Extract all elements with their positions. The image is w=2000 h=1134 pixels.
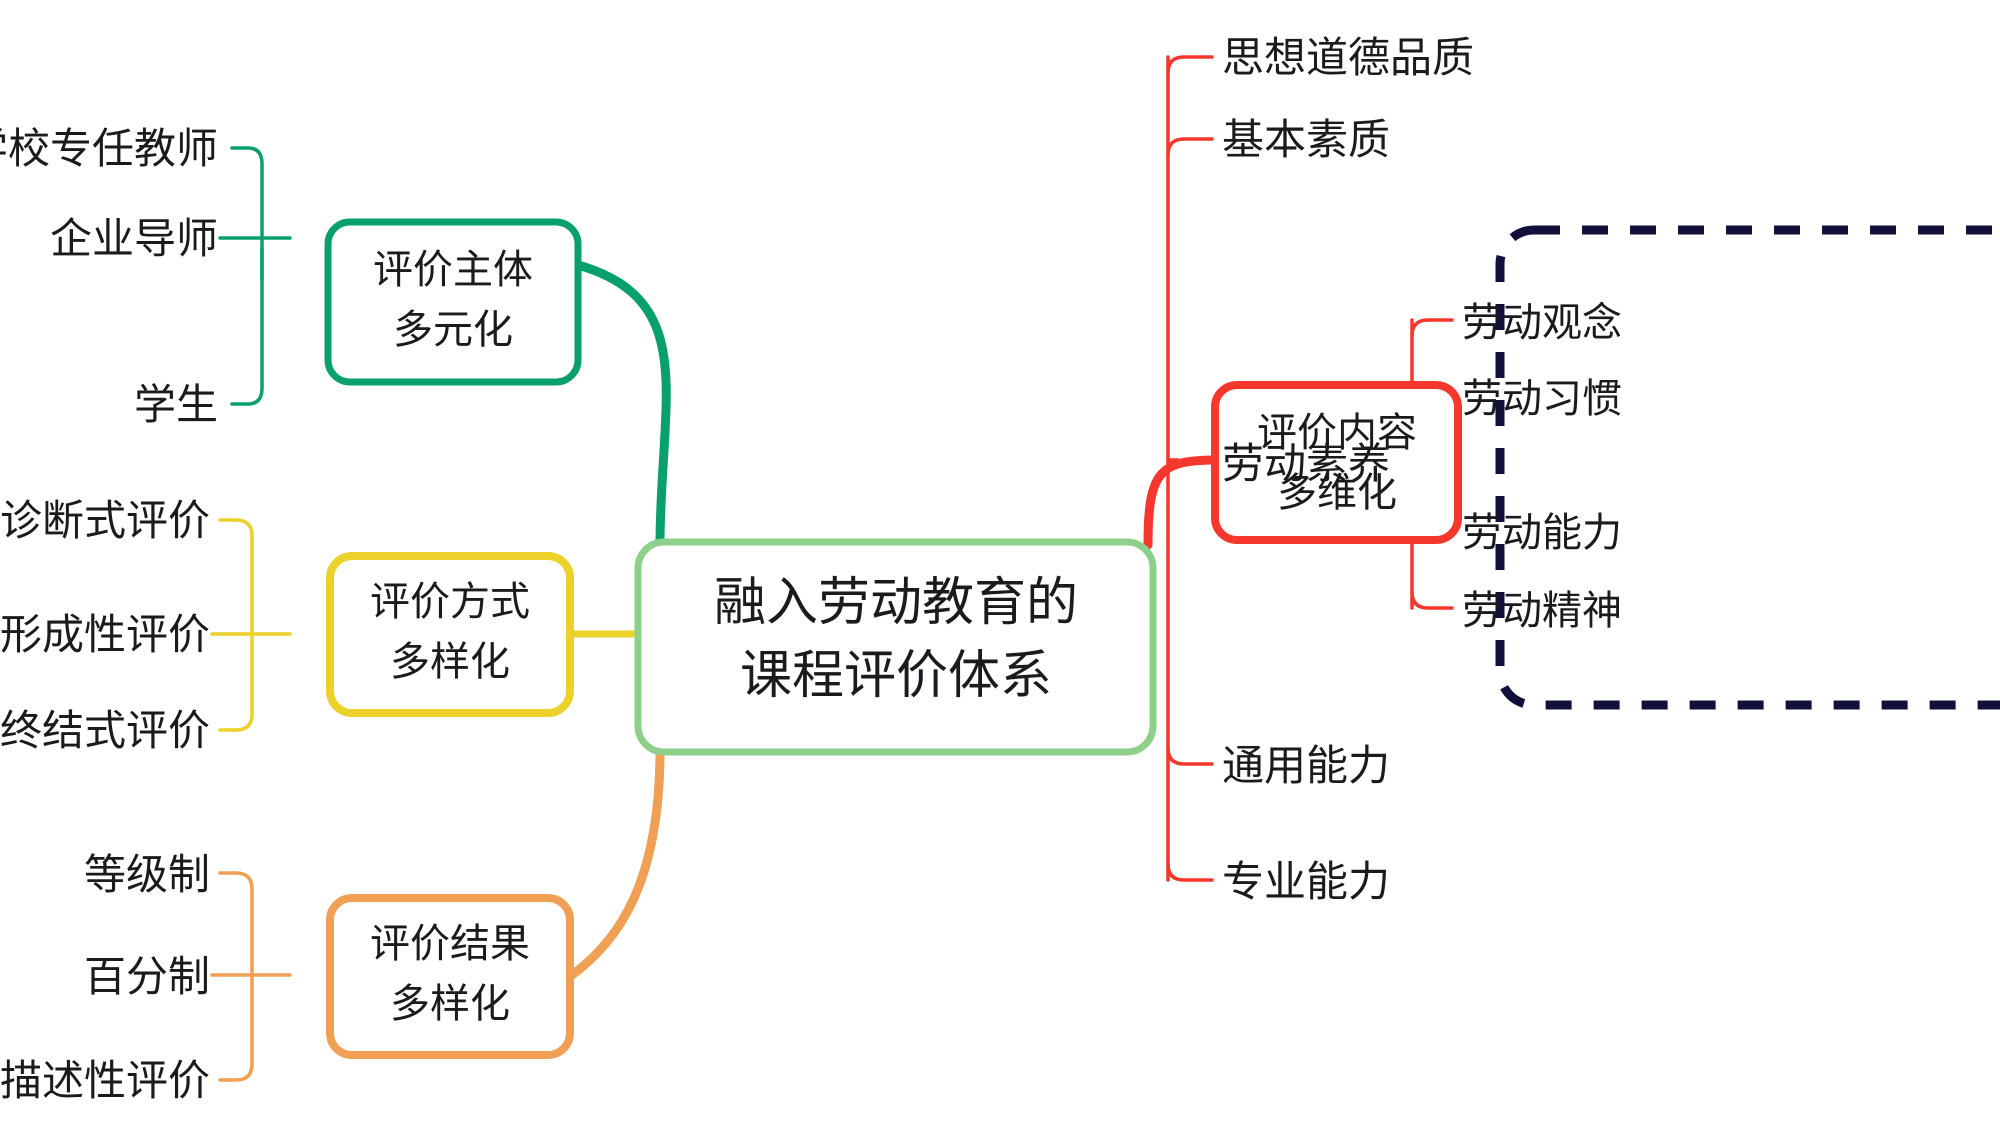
center-node-line1: 融入劳动教育的	[714, 575, 1078, 632]
leaf-literacy-1[interactable]: 劳动习惯	[1462, 376, 1622, 421]
text-layer: 融入劳动教育的 课程评价体系 评价主体 多元化 学校专任教师 企业导师 学生 评…	[0, 0, 2000, 1134]
leaf-result-0[interactable]: 等级制	[84, 853, 210, 899]
leaf-result-2[interactable]: 描述性评价	[0, 1059, 210, 1105]
branch-subject-line2: 多元化	[393, 307, 513, 352]
leaf-method-1[interactable]: 形成性评价	[0, 613, 210, 659]
leaf-literacy-0[interactable]: 劳动观念	[1462, 300, 1622, 345]
leaf-content-0[interactable]: 思想道德品质	[1222, 36, 1474, 82]
mind-map-canvas: 融入劳动教育的 课程评价体系 评价主体 多元化 学校专任教师 企业导师 学生 评…	[0, 0, 2000, 1134]
leaf-content-4[interactable]: 专业能力	[1222, 860, 1390, 906]
branch-subject-line1: 评价主体	[373, 247, 533, 292]
center-node-line2: 课程评价体系	[740, 648, 1052, 705]
branch-result-line1: 评价结果	[370, 921, 530, 966]
leaf-result-1[interactable]: 百分制	[84, 955, 210, 1001]
leaf-method-2[interactable]: 终结式评价	[0, 709, 210, 755]
leaf-literacy-3[interactable]: 劳动精神	[1462, 588, 1622, 633]
leaf-subject-1[interactable]: 企业导师	[50, 216, 218, 263]
leaf-subject-0[interactable]: 学校专任教师	[0, 126, 218, 173]
leaf-subject-2[interactable]: 学生	[134, 382, 218, 429]
leaf-content-1[interactable]: 基本素质	[1222, 118, 1390, 164]
leaf-content-2[interactable]: 劳动素养	[1222, 441, 1390, 488]
branch-method-line1: 评价方式	[370, 579, 530, 624]
leaf-content-3[interactable]: 通用能力	[1222, 744, 1390, 790]
branch-method-line2: 多样化	[390, 639, 510, 684]
branch-result-line2: 多样化	[390, 981, 510, 1026]
leaf-method-0[interactable]: 诊断式评价	[0, 499, 210, 545]
leaf-literacy-2[interactable]: 劳动能力	[1462, 510, 1622, 555]
